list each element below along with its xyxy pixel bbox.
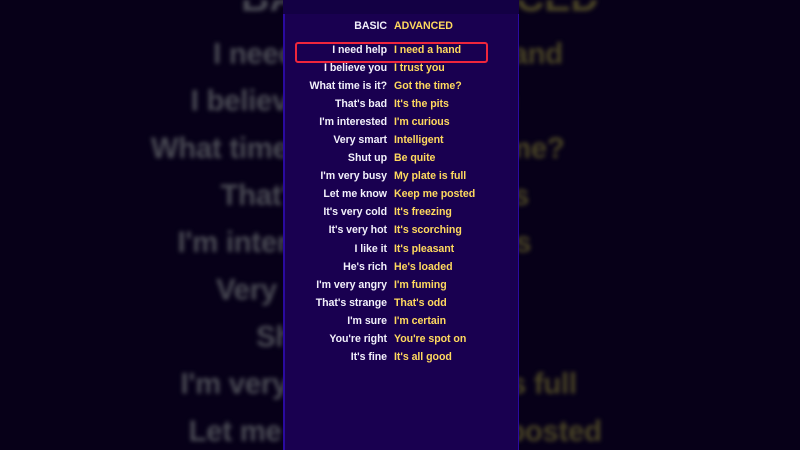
cell-advanced: I'm fuming (393, 279, 519, 291)
table-row[interactable]: I'm interestedI'm curious (283, 113, 519, 131)
cell-basic: I need help (283, 44, 393, 56)
comparison-panel: BASIC ADVANCED I need helpI need a handI… (283, 0, 519, 450)
table-row[interactable]: You're rightYou're spot on (283, 330, 519, 348)
cell-basic: That's strange (283, 297, 393, 309)
cell-advanced: It's pleasant (393, 243, 519, 255)
cell-basic: That's bad (283, 98, 393, 110)
cell-basic: It's very hot (283, 224, 393, 236)
table-row[interactable]: I'm sureI'm certain (283, 312, 519, 330)
cell-basic: He's rich (283, 261, 393, 273)
column-header-basic: BASIC (283, 20, 393, 32)
cell-advanced: Be quite (393, 152, 519, 164)
cell-advanced: He's loaded (393, 261, 519, 273)
cell-advanced: That's odd (393, 297, 519, 309)
cell-advanced: It's the pits (393, 98, 519, 110)
table-row[interactable]: Very smartIntelligent (283, 131, 519, 149)
cell-advanced: I'm certain (393, 315, 519, 327)
cell-advanced: Keep me posted (393, 188, 519, 200)
cell-basic: I'm sure (283, 315, 393, 327)
table-row[interactable]: Shut upBe quite (283, 149, 519, 167)
table-row[interactable]: I'm very angryI'm fuming (283, 276, 519, 294)
table-row[interactable]: It's fineIt's all good (283, 348, 519, 366)
cell-advanced: Intelligent (393, 134, 519, 146)
table-row[interactable]: He's richHe's loaded (283, 258, 519, 276)
cell-basic: It's fine (283, 351, 393, 363)
table-row[interactable]: I believe youI trust you (283, 59, 519, 77)
cell-basic: I'm very angry (283, 279, 393, 291)
cell-advanced: My plate is full (393, 170, 519, 182)
table-row[interactable]: I need helpI need a hand (283, 41, 519, 59)
cell-advanced: It's scorching (393, 224, 519, 236)
cell-basic: What time is it? (283, 80, 393, 92)
table-rows: I need helpI need a handI believe youI t… (283, 41, 519, 366)
table-row[interactable]: Let me knowKeep me posted (283, 185, 519, 203)
cell-basic: I like it (283, 243, 393, 255)
table-row[interactable]: What time is it?Got the time? (283, 77, 519, 95)
cell-advanced: I need a hand (393, 44, 519, 56)
cell-basic: Very smart (283, 134, 393, 146)
cell-basic: Let me know (283, 188, 393, 200)
cell-basic: I believe you (283, 62, 393, 74)
cell-advanced: I'm curious (393, 116, 519, 128)
cell-basic: You're right (283, 333, 393, 345)
table-row[interactable]: I'm very busyMy plate is full (283, 167, 519, 185)
cell-advanced: You're spot on (393, 333, 519, 345)
cell-advanced: Got the time? (393, 80, 519, 92)
cell-advanced: It's all good (393, 351, 519, 363)
cell-advanced: It's freezing (393, 206, 519, 218)
screen: BASICADVANCEDI need helpI need a handI b… (0, 0, 800, 450)
column-header-advanced: ADVANCED (393, 20, 519, 32)
cell-advanced: I trust you (393, 62, 519, 74)
cell-basic: I'm very busy (283, 170, 393, 182)
comparison-table: BASIC ADVANCED I need helpI need a handI… (283, 0, 519, 366)
cell-basic: Shut up (283, 152, 393, 164)
table-row[interactable]: It's very coldIt's freezing (283, 203, 519, 221)
table-row[interactable]: It's very hotIt's scorching (283, 221, 519, 239)
cell-basic: I'm interested (283, 116, 393, 128)
table-row[interactable]: That's badIt's the pits (283, 95, 519, 113)
table-row[interactable]: I like itIt's pleasant (283, 240, 519, 258)
table-row[interactable]: That's strangeThat's odd (283, 294, 519, 312)
table-header-row: BASIC ADVANCED (283, 13, 519, 39)
cell-basic: It's very cold (283, 206, 393, 218)
